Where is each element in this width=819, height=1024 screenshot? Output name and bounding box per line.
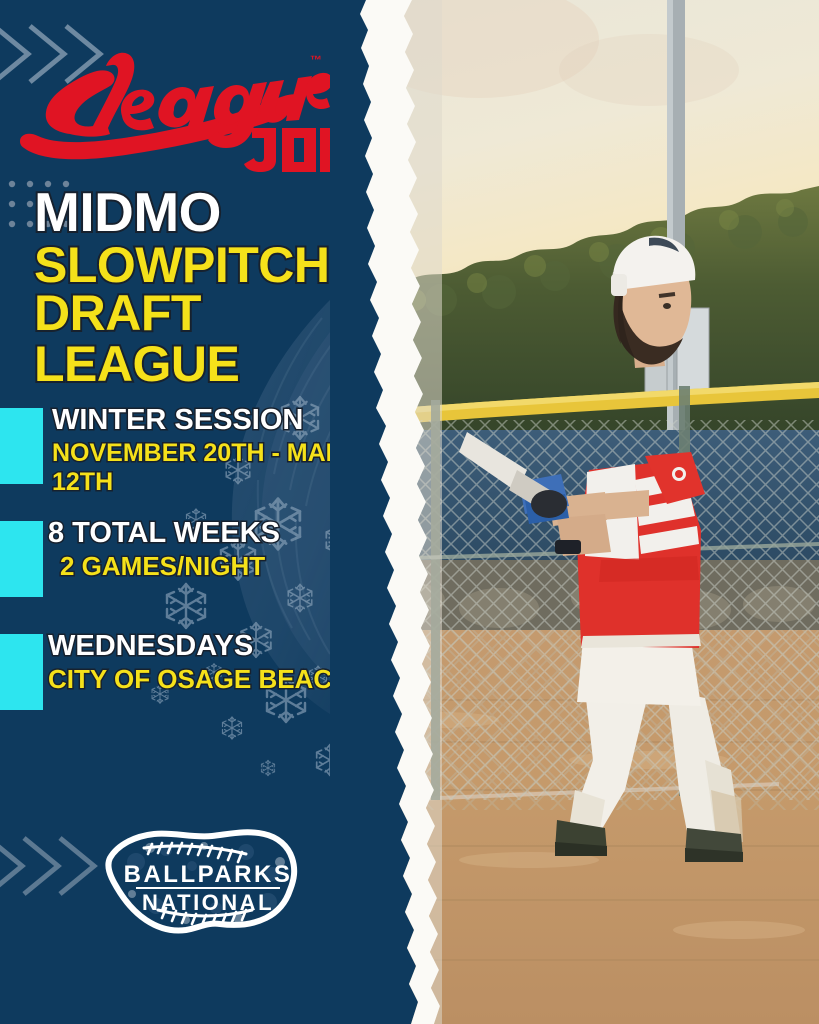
- info-primary: WINTER SESSION: [52, 404, 397, 436]
- flyer-poster: ™ MIDMO SLOWPITCH DRAFT LEA: [0, 0, 819, 1024]
- cyan-marker: [0, 408, 43, 484]
- ballparks-national-logo: BALLPARKS NATIONAL: [96, 822, 321, 942]
- headline-line-2: SLOWPITCH: [34, 240, 394, 291]
- info-block-day-location: WEDNESDAYS CITY OF OSAGE BEACH: [0, 630, 400, 743]
- headline-line-3: DRAFT LEAGUE: [34, 288, 394, 390]
- info-secondary: 2 GAMES/NIGHT: [60, 552, 393, 582]
- footer-logo-line-2: NATIONAL: [142, 890, 274, 915]
- info-primary: 8 TOTAL WEEKS: [48, 517, 393, 549]
- footer-logo-line-1: BALLPARKS: [124, 861, 293, 888]
- cyan-marker: [0, 634, 43, 710]
- headline-line-1: MIDMO: [34, 186, 394, 240]
- info-primary: WEDNESDAYS: [48, 630, 393, 662]
- league-joe-logo: ™: [14, 42, 334, 172]
- headline-group: MIDMO SLOWPITCH DRAFT LEAGUE: [34, 186, 394, 390]
- navy-panel: ™ MIDMO SLOWPITCH DRAFT LEA: [0, 0, 400, 1024]
- cyan-marker: [0, 521, 43, 597]
- info-secondary: CITY OF OSAGE BEACH: [48, 665, 393, 695]
- info-blocks: WINTER SESSION NOVEMBER 20TH - MARCH 12T…: [0, 404, 400, 743]
- info-secondary: NOVEMBER 20TH - MARCH 12TH: [52, 439, 397, 497]
- trademark-symbol: ™: [310, 53, 322, 67]
- softball-photo: [349, 0, 819, 1024]
- info-block-weeks: 8 TOTAL WEEKS 2 GAMES/NIGHT: [0, 517, 400, 630]
- info-block-winter-session: WINTER SESSION NOVEMBER 20TH - MARCH 12T…: [0, 404, 400, 517]
